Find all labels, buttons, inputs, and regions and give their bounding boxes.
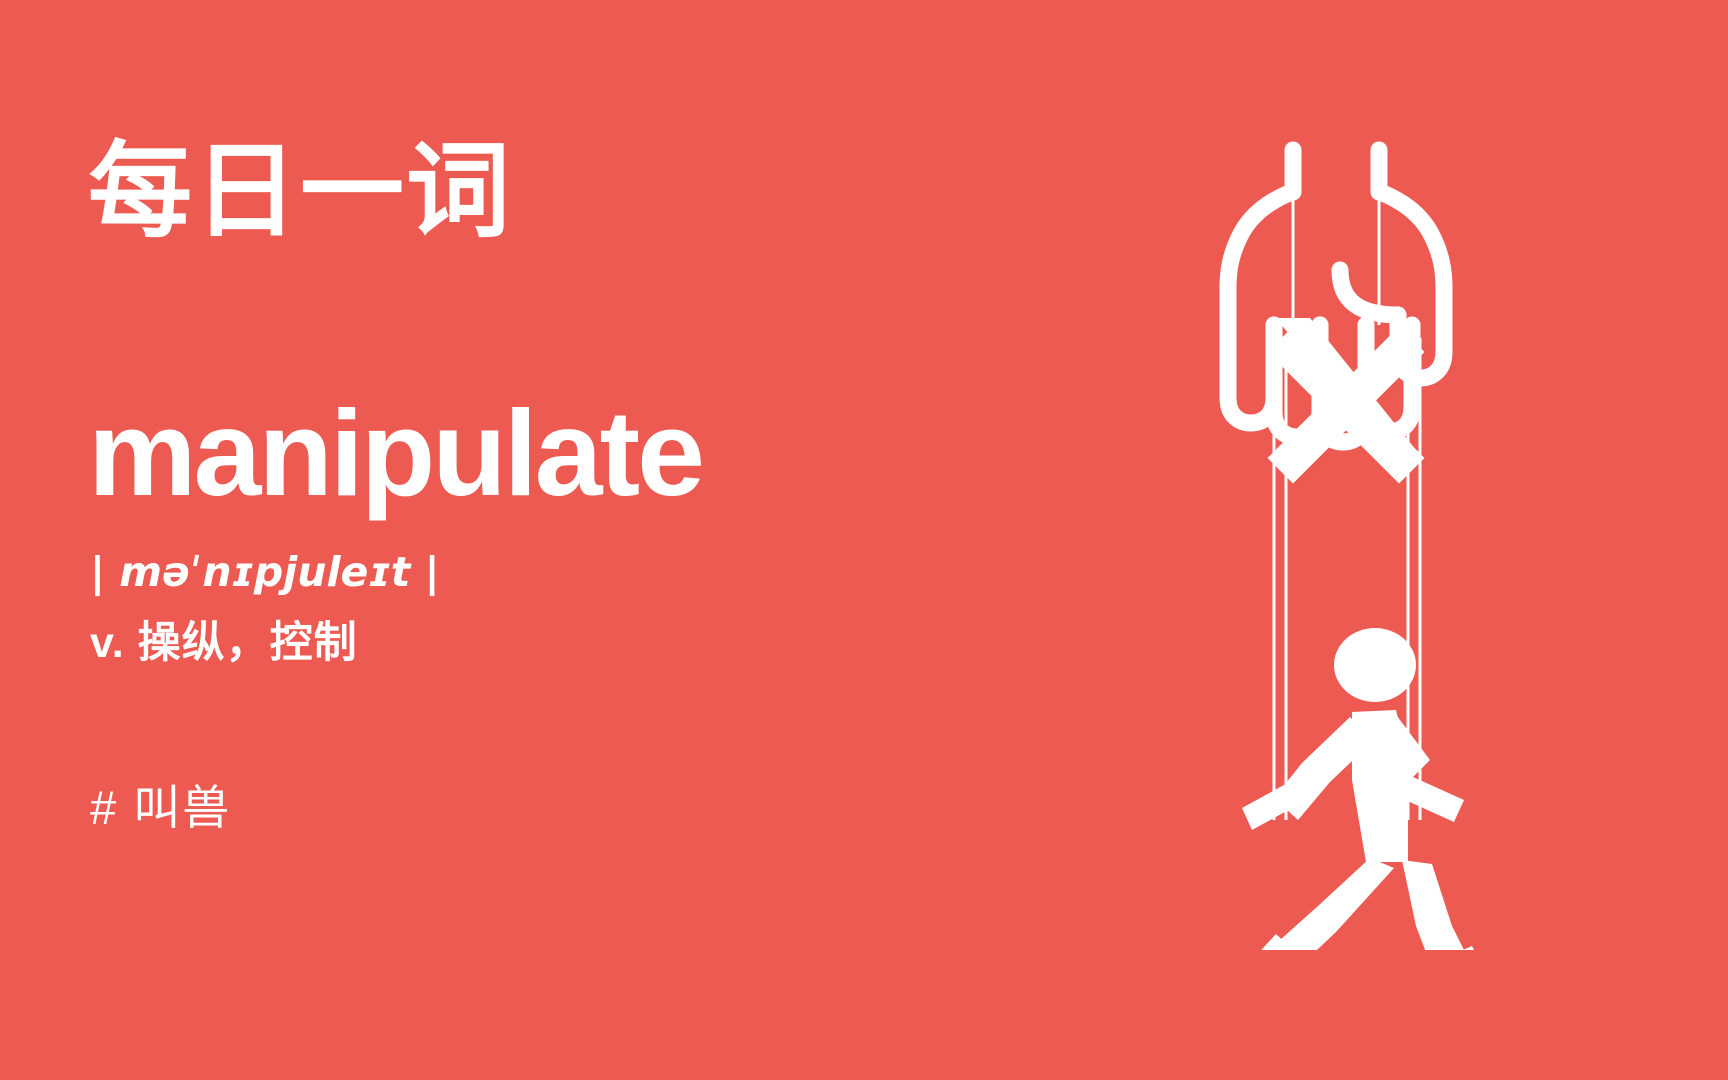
word-of-the-day-card: 每日一词 manipulate | məˈnɪpjuleɪt | v. 操纵，控…	[0, 0, 1728, 1080]
definition: v. 操纵，控制	[90, 622, 358, 665]
puppet-strings-upper	[1293, 150, 1379, 325]
phonetic-transcription: | məˈnɪpjuleɪt |	[90, 552, 440, 593]
headword: manipulate	[88, 392, 702, 514]
puppeteer-marionette-illustration	[1180, 120, 1640, 950]
text-column: 每日一词 manipulate | məˈnɪpjuleɪt | v. 操纵，控…	[88, 0, 1088, 1080]
series-title: 每日一词	[88, 140, 512, 244]
hashtag-label: # 叫兽	[90, 784, 231, 831]
marionette-figure-icon	[1242, 628, 1486, 950]
marionette-control-bar-bars	[1268, 327, 1425, 484]
